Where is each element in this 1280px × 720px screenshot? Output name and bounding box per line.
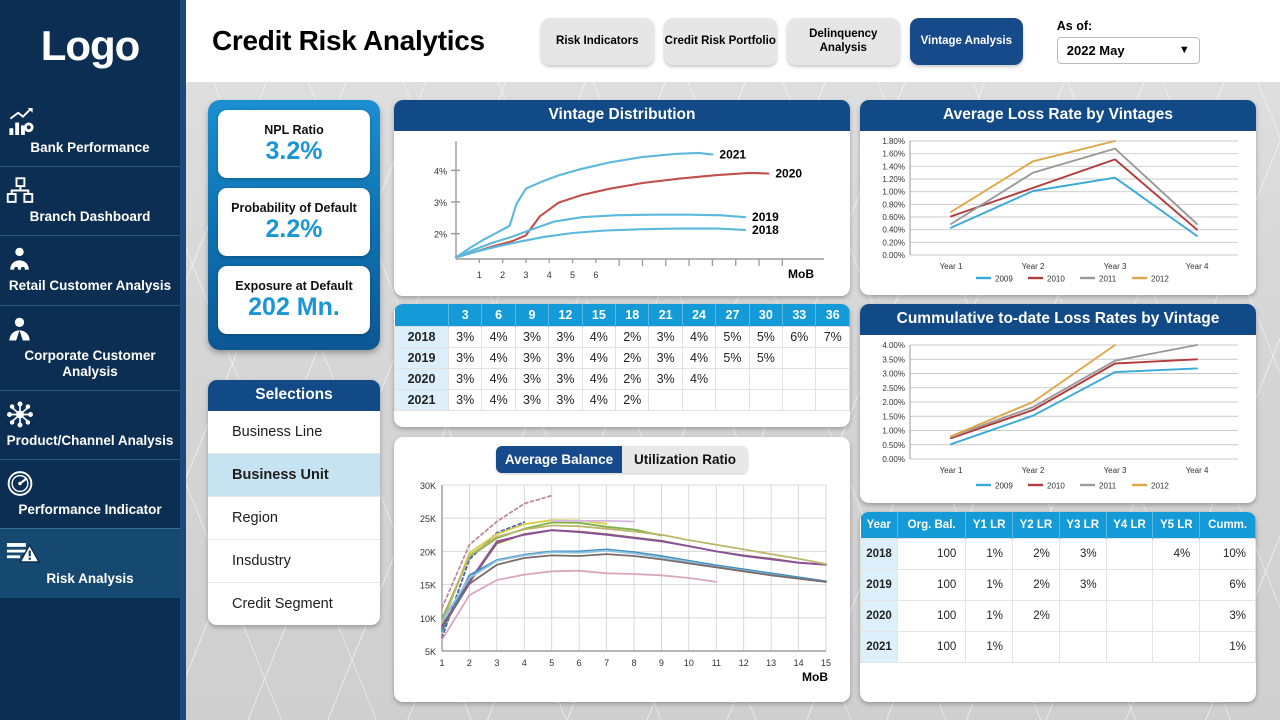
loss-rate-cell: 3% (1200, 601, 1256, 632)
sidebar-item-label: Risk Analysis (6, 571, 174, 587)
svg-text:2009: 2009 (995, 275, 1013, 284)
selections-panel: Selections Business Line Business Unit R… (208, 380, 380, 625)
as-of-select[interactable]: 2022 May ▼ (1057, 37, 1200, 64)
loss-year-cell: 2020 (861, 601, 898, 632)
loss-rate-cell (1106, 570, 1153, 601)
svg-text:2020: 2020 (775, 167, 802, 181)
svg-text:2018: 2018 (752, 223, 779, 237)
tab-credit-risk-portfolio[interactable]: Credit Risk Portfolio (664, 18, 777, 65)
svg-text:Year 2: Year 2 (1022, 262, 1045, 271)
vintage-table-card: 369121518212427303336 20183%4%3%3%4%2%3%… (394, 304, 850, 427)
svg-text:2010: 2010 (1047, 482, 1065, 491)
svg-text:Year 4: Year 4 (1186, 262, 1209, 271)
loss-rate-cell: 3% (1059, 539, 1106, 570)
bar-chart-gear-icon (6, 107, 174, 137)
loss-rate-cell: 2% (1013, 601, 1060, 632)
vintage-table: 369121518212427303336 20183%4%3%3%4%2%3%… (394, 304, 850, 411)
vintage-rate-cell (783, 348, 816, 369)
svg-text:0.00%: 0.00% (882, 251, 905, 260)
svg-text:2012: 2012 (1151, 482, 1169, 491)
cumulative-loss-rate-title: Cummulative to-date Loss Rates by Vintag… (860, 304, 1256, 335)
loss-rate-cell: 1% (966, 601, 1013, 632)
table-body: 20183%4%3%3%4%2%3%4%5%5%6%7%20193%4%3%3%… (395, 327, 850, 411)
svg-text:Year 3: Year 3 (1104, 466, 1127, 475)
loss-rate-cell (1153, 570, 1200, 601)
table-row: 20201001%2%3% (861, 601, 1256, 632)
loss-rate-cell: 100 (898, 632, 966, 663)
toggle-average-balance[interactable]: Average Balance (496, 446, 622, 473)
svg-text:12: 12 (739, 658, 749, 668)
vintage-rate-cell: 4% (582, 327, 615, 348)
gauge-icon (6, 469, 174, 499)
vintage-col-header: 21 (649, 304, 682, 327)
average-loss-rate-chart: 0.00%0.20%0.40%0.60%0.80%1.00%1.20%1.40%… (860, 131, 1256, 295)
kpi-label: Exposure at Default (235, 279, 352, 293)
vintage-rate-cell (783, 369, 816, 390)
vintage-rate-cell: 4% (482, 369, 515, 390)
page-title: Credit Risk Analytics (212, 25, 485, 57)
svg-text:0.20%: 0.20% (882, 238, 905, 247)
table-row: 20211001%1% (861, 632, 1256, 663)
vintage-rate-cell: 2% (616, 390, 649, 411)
org-chart-icon (6, 176, 174, 206)
sidebar-item-product-channel-analysis[interactable]: Product/Channel Analysis (0, 390, 180, 459)
loss-col-header: Year (861, 512, 898, 539)
vintage-col-header: 36 (816, 304, 850, 327)
vintage-year-cell: 2021 (395, 390, 449, 411)
kpi-probability-of-default: Probability of Default 2.2% (218, 188, 370, 256)
vintage-rate-cell (649, 390, 682, 411)
svg-text:2: 2 (467, 658, 472, 668)
vintage-col-header: 12 (549, 304, 582, 327)
svg-text:5: 5 (570, 270, 575, 280)
vintage-rate-cell: 3% (649, 327, 682, 348)
svg-text:MoB: MoB (802, 670, 828, 684)
vintage-distribution-chart: 2%3%4%123456MoB2021202020192018 (394, 131, 850, 296)
svg-text:1: 1 (439, 658, 444, 668)
average-balance-chart: 5K10K15K20K25K30K123456789101112131415Mo… (394, 473, 850, 695)
svg-text:14: 14 (794, 658, 804, 668)
svg-text:4.00%: 4.00% (882, 341, 905, 350)
customer-cart-icon (6, 245, 174, 275)
loss-rate-cell (1153, 632, 1200, 663)
loss-rate-cell: 4% (1153, 539, 1200, 570)
vintage-rate-cell: 3% (549, 327, 582, 348)
vintage-col-header: 9 (515, 304, 548, 327)
vintage-rate-cell: 4% (482, 390, 515, 411)
svg-text:10K: 10K (420, 614, 436, 624)
svg-text:1.00%: 1.00% (882, 427, 905, 436)
svg-text:2011: 2011 (1099, 482, 1117, 491)
vintage-rate-cell (783, 390, 816, 411)
vintage-rate-cell: 3% (549, 390, 582, 411)
vintage-rate-cell: 5% (749, 327, 782, 348)
vintage-col-header: 15 (582, 304, 615, 327)
svg-text:1: 1 (477, 270, 482, 280)
svg-text:4: 4 (522, 658, 527, 668)
sidebar-item-label: Product/Channel Analysis (6, 433, 174, 449)
table-body: 20181001%2%3%4%10%20191001%2%3%6%2020100… (861, 539, 1256, 663)
loss-rate-cell: 3% (1059, 570, 1106, 601)
vintage-col-header: 30 (749, 304, 782, 327)
sidebar: Logo Bank Performance Branch Dashboard R… (0, 0, 186, 720)
main-area: Credit Risk Analytics Risk Indicators Cr… (186, 0, 1280, 720)
vintage-col-header: 18 (616, 304, 649, 327)
vintage-rate-cell: 3% (649, 348, 682, 369)
svg-text:1.80%: 1.80% (882, 137, 905, 146)
vintage-rate-cell: 3% (649, 369, 682, 390)
svg-text:Year 1: Year 1 (940, 262, 963, 271)
sidebar-item-corporate-customer-analysis[interactable]: Corporate Customer Analysis (0, 305, 180, 390)
svg-text:Year 4: Year 4 (1186, 466, 1209, 475)
sidebar-item-label: Performance Indicator (6, 502, 174, 518)
loss-col-header: Cumm. (1200, 512, 1256, 539)
vintage-col-header: 3 (449, 304, 482, 327)
svg-text:10: 10 (684, 658, 694, 668)
vintage-rate-cell (749, 390, 782, 411)
vintage-rate-cell: 5% (749, 348, 782, 369)
svg-text:5K: 5K (425, 647, 436, 657)
svg-text:2: 2 (500, 270, 505, 280)
kpi-label: Probability of Default (231, 201, 357, 215)
loss-rate-cell: 2% (1013, 539, 1060, 570)
vintage-rate-cell: 3% (515, 369, 548, 390)
vintage-rate-cell: 3% (449, 348, 482, 369)
vintage-rate-cell: 7% (816, 327, 850, 348)
svg-text:MoB: MoB (788, 267, 814, 281)
average-balance-card: Average Balance Utilization Ratio 5K10K1… (394, 437, 850, 702)
svg-text:2.50%: 2.50% (882, 384, 905, 393)
as-of-value: 2022 May (1067, 43, 1125, 58)
loss-rate-cell (1013, 632, 1060, 663)
vintage-rate-cell (816, 369, 850, 390)
loss-rate-cell: 6% (1200, 570, 1256, 601)
svg-text:1.50%: 1.50% (882, 412, 905, 421)
loss-rate-cell: 1% (966, 632, 1013, 663)
vintage-rate-cell: 4% (582, 369, 615, 390)
tab-vintage-analysis[interactable]: Vintage Analysis (910, 18, 1023, 65)
sidebar-item-label: Corporate Customer Analysis (6, 348, 174, 380)
selections-title: Selections (208, 380, 380, 411)
loss-rate-cell: 100 (898, 601, 966, 632)
table-row: 20203%4%3%3%4%2%3%4% (395, 369, 850, 390)
vintage-rate-cell: 4% (682, 327, 715, 348)
vintage-rate-cell: 4% (682, 369, 715, 390)
loss-rate-cell: 100 (898, 570, 966, 601)
svg-text:2010: 2010 (1047, 275, 1065, 284)
svg-text:8: 8 (631, 658, 636, 668)
svg-text:15: 15 (821, 658, 831, 668)
svg-text:0.80%: 0.80% (882, 200, 905, 209)
table-row: 20213%4%3%3%4%2% (395, 390, 850, 411)
top-bar: Credit Risk Analytics Risk Indicators Cr… (186, 0, 1280, 82)
svg-text:3: 3 (523, 270, 528, 280)
loss-col-header: Y3 LR (1059, 512, 1106, 539)
sidebar-item-performance-indicator[interactable]: Performance Indicator (0, 459, 180, 528)
chevron-down-icon: ▼ (1179, 44, 1190, 56)
sidebar-item-label: Branch Dashboard (6, 209, 174, 225)
vintage-rate-cell (816, 390, 850, 411)
svg-text:Year 1: Year 1 (940, 466, 963, 475)
vintage-rate-cell (749, 369, 782, 390)
vintage-rate-cell: 3% (515, 390, 548, 411)
sidebar-item-label: Bank Performance (6, 140, 174, 156)
loss-rate-cell: 2% (1013, 570, 1060, 601)
loss-year-cell: 2019 (861, 570, 898, 601)
kpi-value: 202 Mn. (248, 294, 340, 320)
vintage-rate-cell: 2% (616, 348, 649, 369)
vintage-rate-cell (716, 390, 749, 411)
cumulative-loss-rate-chart: 0.00%0.50%1.00%1.50%2.00%2.50%3.00%3.50%… (860, 335, 1256, 503)
loss-rate-cell (1106, 601, 1153, 632)
vintage-distribution-card: Vintage Distribution 2%3%4%123456MoB2021… (394, 100, 850, 296)
sidebar-item-label: Retail Customer Analysis (6, 278, 174, 294)
table-header-row: YearOrg. Bal.Y1 LRY2 LRY3 LRY4 LRY5 LRCu… (861, 512, 1256, 539)
loss-year-cell: 2021 (861, 632, 898, 663)
svg-text:0.00%: 0.00% (882, 455, 905, 464)
svg-text:9: 9 (659, 658, 664, 668)
svg-text:Year 3: Year 3 (1104, 262, 1127, 271)
business-person-icon (6, 315, 174, 345)
loss-rate-cell: 10% (1200, 539, 1256, 570)
loss-col-header: Y2 LR (1013, 512, 1060, 539)
loss-rate-cell (1059, 601, 1106, 632)
sidebar-item-bank-performance[interactable]: Bank Performance (0, 98, 180, 166)
svg-text:3%: 3% (434, 198, 447, 208)
kpi-panel: NPL Ratio 3.2% Probability of Default 2.… (208, 100, 380, 350)
sidebar-item-branch-dashboard[interactable]: Branch Dashboard (0, 166, 180, 235)
table-row: 20191001%2%3%6% (861, 570, 1256, 601)
tab-delinquency-analysis[interactable]: Delinquency Analysis (787, 18, 900, 65)
svg-text:1.40%: 1.40% (882, 162, 905, 171)
cumulative-loss-rate-card: Cummulative to-date Loss Rates by Vintag… (860, 304, 1256, 503)
svg-text:1.00%: 1.00% (882, 188, 905, 197)
vintage-col-header: 6 (482, 304, 515, 327)
table-row: 20183%4%3%3%4%2%3%4%5%5%6%7% (395, 327, 850, 348)
svg-text:2009: 2009 (995, 482, 1013, 491)
svg-text:0.60%: 0.60% (882, 213, 905, 222)
loss-rate-cell: 1% (1200, 632, 1256, 663)
svg-text:1.60%: 1.60% (882, 150, 905, 159)
vintage-rate-cell: 3% (449, 390, 482, 411)
vintage-rate-cell: 3% (449, 327, 482, 348)
vintage-year-cell: 2019 (395, 348, 449, 369)
loss-rate-cell: 1% (966, 539, 1013, 570)
svg-text:2012: 2012 (1151, 275, 1169, 284)
network-nodes-icon (6, 400, 174, 430)
vintage-rate-cell: 3% (515, 327, 548, 348)
svg-text:2021: 2021 (719, 148, 746, 162)
kpi-value: 3.2% (266, 138, 323, 164)
vintage-col-header: 33 (783, 304, 816, 327)
svg-text:20K: 20K (420, 547, 436, 557)
tab-risk-indicators[interactable]: Risk Indicators (541, 18, 654, 65)
vintage-rate-cell: 4% (582, 348, 615, 369)
svg-text:2%: 2% (434, 230, 447, 240)
svg-text:2011: 2011 (1099, 275, 1117, 284)
svg-text:4: 4 (547, 270, 552, 280)
selection-item-business-line[interactable]: Business Line (208, 411, 380, 454)
svg-text:25K: 25K (420, 514, 436, 524)
risk-warning-icon (6, 538, 174, 568)
svg-text:7: 7 (604, 658, 609, 668)
svg-text:3: 3 (494, 658, 499, 668)
loss-col-header: Y1 LR (966, 512, 1013, 539)
vintage-year-cell: 2018 (395, 327, 449, 348)
loss-rate-cell (1153, 601, 1200, 632)
as-of-label: As of: (1057, 19, 1200, 33)
loss-rate-cell: 100 (898, 539, 966, 570)
vintage-rate-cell: 4% (482, 327, 515, 348)
dashboard-canvas: NPL Ratio 3.2% Probability of Default 2.… (186, 82, 1280, 720)
svg-text:13: 13 (766, 658, 776, 668)
selection-item-region[interactable]: Region (208, 497, 380, 540)
loss-col-header: Org. Bal. (898, 512, 966, 539)
vintage-rate-cell: 3% (515, 348, 548, 369)
vintage-year-cell: 2020 (395, 369, 449, 390)
svg-text:4%: 4% (434, 166, 447, 176)
vintage-rate-cell: 2% (616, 369, 649, 390)
tab-bar: Risk Indicators Credit Risk Portfolio De… (541, 18, 1023, 65)
svg-text:15K: 15K (420, 581, 436, 591)
svg-text:Year 2: Year 2 (1022, 466, 1045, 475)
kpi-npl-ratio: NPL Ratio 3.2% (218, 110, 370, 178)
loss-col-header: Y5 LR (1153, 512, 1200, 539)
loss-rate-table-card: YearOrg. Bal.Y1 LRY2 LRY3 LRY4 LRY5 LRCu… (860, 512, 1256, 702)
vintage-rate-cell: 3% (549, 369, 582, 390)
vintage-rate-cell: 6% (783, 327, 816, 348)
vintage-rate-cell: 5% (716, 348, 749, 369)
kpi-exposure-at-default: Exposure at Default 202 Mn. (218, 266, 370, 334)
loss-rate-cell (1059, 632, 1106, 663)
vintage-rate-cell (682, 390, 715, 411)
loss-year-cell: 2018 (861, 539, 898, 570)
vintage-col-header (395, 304, 449, 327)
svg-text:11: 11 (712, 658, 721, 668)
sidebar-item-risk-analysis[interactable]: Risk Analysis (0, 528, 180, 597)
toggle-utilization-ratio[interactable]: Utilization Ratio (622, 446, 748, 473)
loss-col-header: Y4 LR (1106, 512, 1153, 539)
svg-text:6: 6 (593, 270, 598, 280)
vintage-col-header: 24 (682, 304, 715, 327)
svg-text:6: 6 (577, 658, 582, 668)
balance-toggle: Average Balance Utilization Ratio (496, 446, 748, 473)
selection-item-insdustry[interactable]: Insdustry (208, 540, 380, 583)
average-loss-rate-card: Average Loss Rate by Vintages 0.00%0.20%… (860, 100, 1256, 295)
table-row: 20181001%2%3%4%10% (861, 539, 1256, 570)
vintage-rate-cell: 3% (549, 348, 582, 369)
svg-text:30K: 30K (420, 481, 436, 491)
kpi-value: 2.2% (266, 216, 323, 242)
vintage-rate-cell: 4% (582, 390, 615, 411)
vintage-rate-cell: 5% (716, 327, 749, 348)
selection-item-business-unit[interactable]: Business Unit (208, 454, 380, 497)
vintage-distribution-title: Vintage Distribution (394, 100, 850, 131)
vintage-rate-cell: 2% (616, 327, 649, 348)
svg-text:5: 5 (549, 658, 554, 668)
selection-item-credit-segment[interactable]: Credit Segment (208, 583, 380, 625)
table-header-row: 369121518212427303336 (395, 304, 850, 327)
loss-rate-table: YearOrg. Bal.Y1 LRY2 LRY3 LRY4 LRY5 LRCu… (860, 512, 1256, 663)
vintage-col-header: 27 (716, 304, 749, 327)
vintage-rate-cell (816, 348, 850, 369)
svg-text:3.50%: 3.50% (882, 355, 905, 364)
svg-text:2.00%: 2.00% (882, 398, 905, 407)
loss-rate-cell: 1% (966, 570, 1013, 601)
vintage-rate-cell (716, 369, 749, 390)
vintage-rate-cell: 4% (482, 348, 515, 369)
table-row: 20193%4%3%3%4%2%3%4%5%5% (395, 348, 850, 369)
vintage-rate-cell: 4% (682, 348, 715, 369)
svg-text:1.20%: 1.20% (882, 175, 905, 184)
loss-rate-cell (1106, 632, 1153, 663)
svg-text:0.40%: 0.40% (882, 226, 905, 235)
kpi-label: NPL Ratio (264, 123, 324, 137)
as-of-control: As of: 2022 May ▼ (1057, 19, 1200, 64)
svg-text:3.00%: 3.00% (882, 370, 905, 379)
average-loss-rate-title: Average Loss Rate by Vintages (860, 100, 1256, 131)
logo: Logo (0, 0, 180, 98)
sidebar-item-retail-customer-analysis[interactable]: Retail Customer Analysis (0, 235, 180, 304)
svg-text:0.50%: 0.50% (882, 441, 905, 450)
loss-rate-cell (1106, 539, 1153, 570)
vintage-rate-cell: 3% (449, 369, 482, 390)
